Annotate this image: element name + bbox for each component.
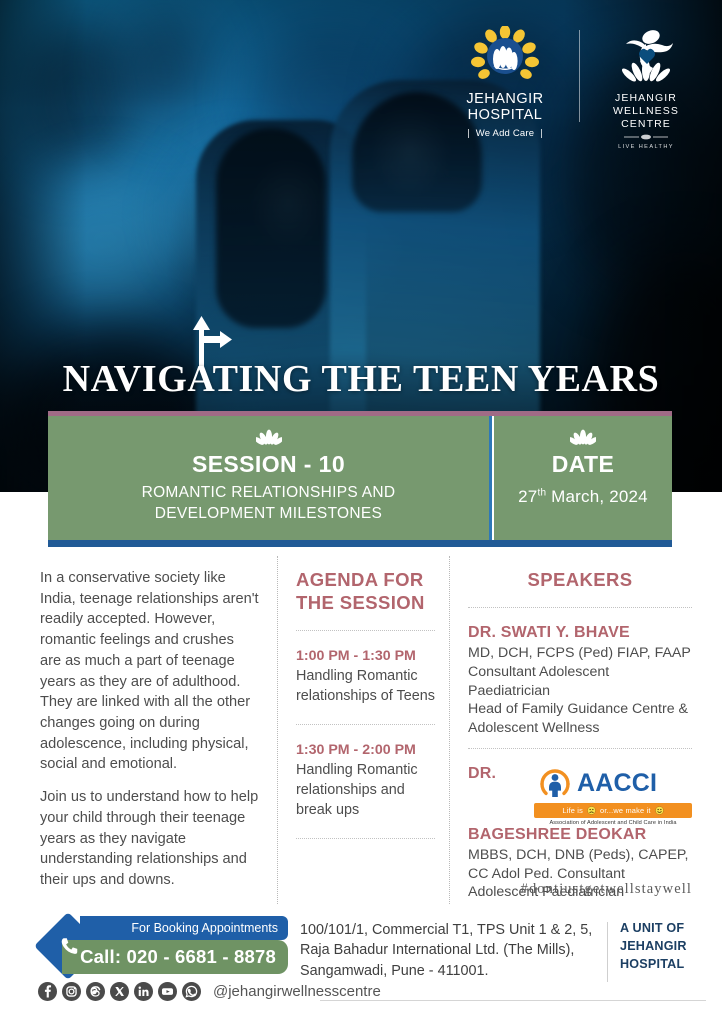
footer-divider: [607, 922, 608, 982]
lotus-icon: [570, 429, 596, 448]
aacci-caption: Association of Adolescent and Child Care…: [534, 820, 692, 826]
agenda-heading-line2: THE SESSION: [296, 591, 435, 614]
date-ordinal: th: [537, 487, 546, 498]
wellness-tagline: LIVE HEALTHY: [594, 144, 698, 150]
wellness-figure-lotus-icon: [615, 26, 677, 88]
address-block: 100/101/1, Commercial T1, TPS Unit 1 & 2…: [300, 920, 600, 981]
aacci-tagline-band: Life is or...we make it: [534, 803, 692, 818]
unit-of-block: A UNIT OF JEHANGIR HOSPITAL: [620, 920, 716, 974]
sad-face-icon: [587, 806, 596, 815]
sunflower-logo-icon: [471, 26, 539, 88]
booking-badge[interactable]: For Booking Appointments Call: 020 - 668…: [44, 916, 288, 974]
session-date-bar: SESSION - 10 ROMANTIC RELATIONSHIPS AND …: [48, 411, 672, 547]
date-rest: March, 2024: [546, 487, 648, 506]
facebook-icon[interactable]: [38, 982, 57, 1001]
date-block: DATE 27th March, 2024: [492, 416, 672, 540]
aacci-figure-icon: [538, 767, 572, 801]
unit-of-line-2: JEHANGIR: [620, 938, 716, 956]
aacci-band-middle: or...we make it: [600, 806, 651, 815]
social-handle[interactable]: @jehangirwellnesscentre: [213, 983, 381, 1000]
agenda-item-description: Handling Romantic relationships of Teens: [296, 667, 435, 706]
agenda-item: 1:30 PM - 2:00 PM Handling Romantic rela…: [296, 725, 435, 838]
agenda-column: AGENDA FOR THE SESSION 1:00 PM - 1:30 PM…: [278, 556, 450, 904]
address-line-3: Sangamwadi, Pune - 411001.: [300, 961, 600, 981]
threads-icon[interactable]: [86, 982, 105, 1001]
event-poster: JEHANGIR HOSPITAL We Add Care: [0, 0, 722, 1024]
speaker-entry: DR. SWATI Y. BHAVE MD, DCH, FCPS (Ped) F…: [468, 608, 692, 748]
session-block: SESSION - 10 ROMANTIC RELATIONSHIPS AND …: [48, 416, 492, 540]
jehangir-hospital-logo: JEHANGIR HOSPITAL We Add Care: [445, 26, 579, 141]
wellness-name-line2: WELLNESS CENTRE: [594, 105, 698, 131]
campaign-hashtag: #dontjustgetwellstaywell: [521, 881, 692, 898]
speakers-column: SPEAKERS DR. SWATI Y. BHAVE MD, DCH, FCP…: [450, 556, 692, 904]
agenda-heading-line1: AGENDA FOR: [296, 568, 435, 591]
agenda-item-description: Handling Romantic relationships and brea…: [296, 761, 435, 820]
agenda-item: 1:00 PM - 1:30 PM Handling Romantic rela…: [296, 631, 435, 724]
address-line-2: Raja Bahadur International Ltd. (The Mil…: [300, 940, 600, 960]
hospital-name-line1: JEHANGIR: [445, 92, 565, 108]
session-number-label: SESSION - 10: [58, 453, 479, 476]
session-subtitle-line2: DEVELOPMENT MILESTONES: [58, 504, 479, 525]
agenda-item-time: 1:00 PM - 1:30 PM: [296, 648, 435, 664]
speaker-credentials: MD, DCH, FCPS (Ped) FIAP, FAAP Consultan…: [468, 644, 692, 738]
booking-phone-number[interactable]: Call: 020 - 6681 - 8878: [62, 940, 288, 974]
booking-headline: For Booking Appointments: [80, 916, 288, 940]
date-day: 27: [518, 487, 537, 506]
logo-lockup: JEHANGIR HOSPITAL We Add Care: [445, 26, 698, 150]
social-links[interactable]: @jehangirwellnesscentre: [38, 982, 381, 1001]
wellness-name-line1: JEHANGIR: [594, 92, 698, 105]
footer-rule: [320, 1000, 706, 1001]
wellness-ornament-icon: [624, 134, 668, 140]
speaker-name: DR. SWATI Y. BHAVE: [468, 624, 692, 642]
agenda-divider: [296, 838, 435, 839]
aacci-band-prefix: Life is: [562, 806, 583, 815]
poster-footer: For Booking Appointments Call: 020 - 668…: [0, 906, 722, 1024]
phone-icon: [58, 936, 80, 958]
page-title: NAVIGATING THE TEEN YEARS: [0, 357, 722, 401]
unit-of-line-3: HOSPITAL: [620, 956, 716, 974]
session-subtitle-line1: ROMANTIC RELATIONSHIPS AND: [58, 483, 479, 504]
lotus-icon: [256, 429, 282, 448]
content-columns: In a conservative society like India, te…: [0, 556, 722, 904]
happy-face-icon: [655, 806, 664, 815]
intro-paragraph-2: Join us to understand how to help your c…: [40, 787, 259, 891]
youtube-icon[interactable]: [158, 982, 177, 1001]
address-line-1: 100/101/1, Commercial T1, TPS Unit 1 & 2…: [300, 920, 600, 940]
agenda-heading: AGENDA FOR THE SESSION: [296, 556, 435, 630]
intro-paragraph-1: In a conservative society like India, te…: [40, 568, 259, 775]
speakers-heading: SPEAKERS: [468, 556, 692, 607]
aacci-wordmark: AACCI: [577, 771, 657, 796]
x-twitter-icon[interactable]: [110, 982, 129, 1001]
date-heading: DATE: [504, 453, 662, 476]
event-date: 27th March, 2024: [504, 487, 662, 507]
linkedin-icon[interactable]: [134, 982, 153, 1001]
intro-column: In a conservative society like India, te…: [40, 556, 278, 904]
jehangir-wellness-centre-logo: JEHANGIR WELLNESS CENTRE LIVE HEALTHY: [580, 26, 698, 150]
instagram-icon[interactable]: [62, 982, 81, 1001]
hospital-tagline: We Add Care: [468, 128, 543, 139]
agenda-item-time: 1:30 PM - 2:00 PM: [296, 742, 435, 758]
whatsapp-icon[interactable]: [182, 982, 201, 1001]
unit-of-line-1: A UNIT OF: [620, 920, 716, 938]
hospital-name-line2: HOSPITAL: [445, 108, 565, 124]
aacci-logo: AACCI Life is or...we make it: [534, 767, 692, 826]
